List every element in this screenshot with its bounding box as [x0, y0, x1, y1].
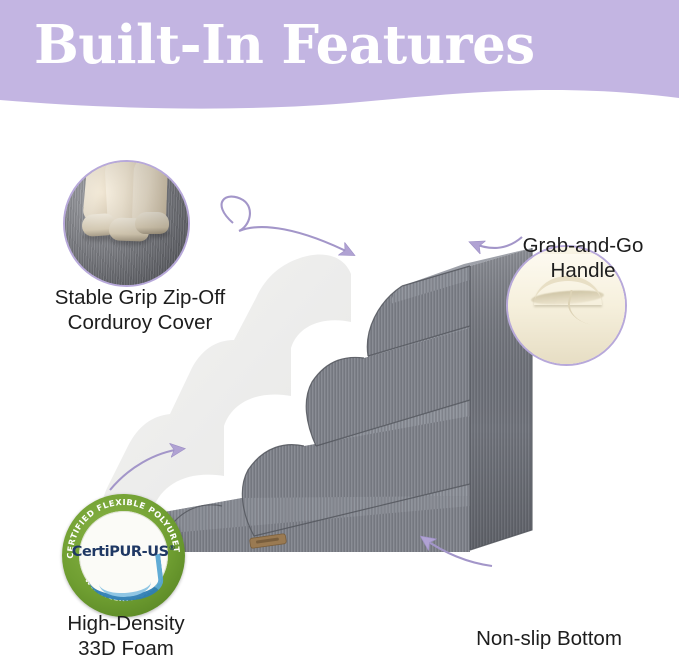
photo-vignette	[65, 162, 188, 285]
caption-line-2: 33D Foam	[28, 636, 224, 658]
caption-line-1: Non-slip Bottom	[449, 626, 649, 651]
caption-grab-and-go: Grab-and-Go Handle	[487, 233, 679, 283]
certipur-us-badge: CONTAINS CERTIFIED FLEXIBLE POLYURETHANE…	[62, 494, 185, 617]
badge-wordmark: CertiPUR-US®	[62, 544, 185, 560]
caption-line-2: Handle	[487, 258, 679, 283]
caption-line-2: Corduroy Cover	[8, 310, 272, 335]
header-band: Built-In Features	[0, 0, 679, 132]
caption-line-1: High-Density	[28, 611, 224, 636]
caption-high-density-foam: High-Density 33D Foam	[28, 611, 224, 658]
dog-paws-on-corduroy-photo	[63, 160, 190, 287]
caption-line-1: Stable Grip Zip-Off	[8, 285, 272, 310]
page-title: Built-In Features	[34, 16, 634, 74]
registered-mark-icon: ®	[169, 545, 176, 553]
caption-non-slip: Non-slip Bottom	[449, 626, 649, 651]
caption-stable-grip: Stable Grip Zip-Off Corduroy Cover	[8, 285, 272, 335]
infographic-canvas: Built-In Features	[0, 0, 679, 658]
caption-line-1: Grab-and-Go	[487, 233, 679, 258]
badge-wordmark-text: CertiPUR-US	[72, 544, 169, 560]
